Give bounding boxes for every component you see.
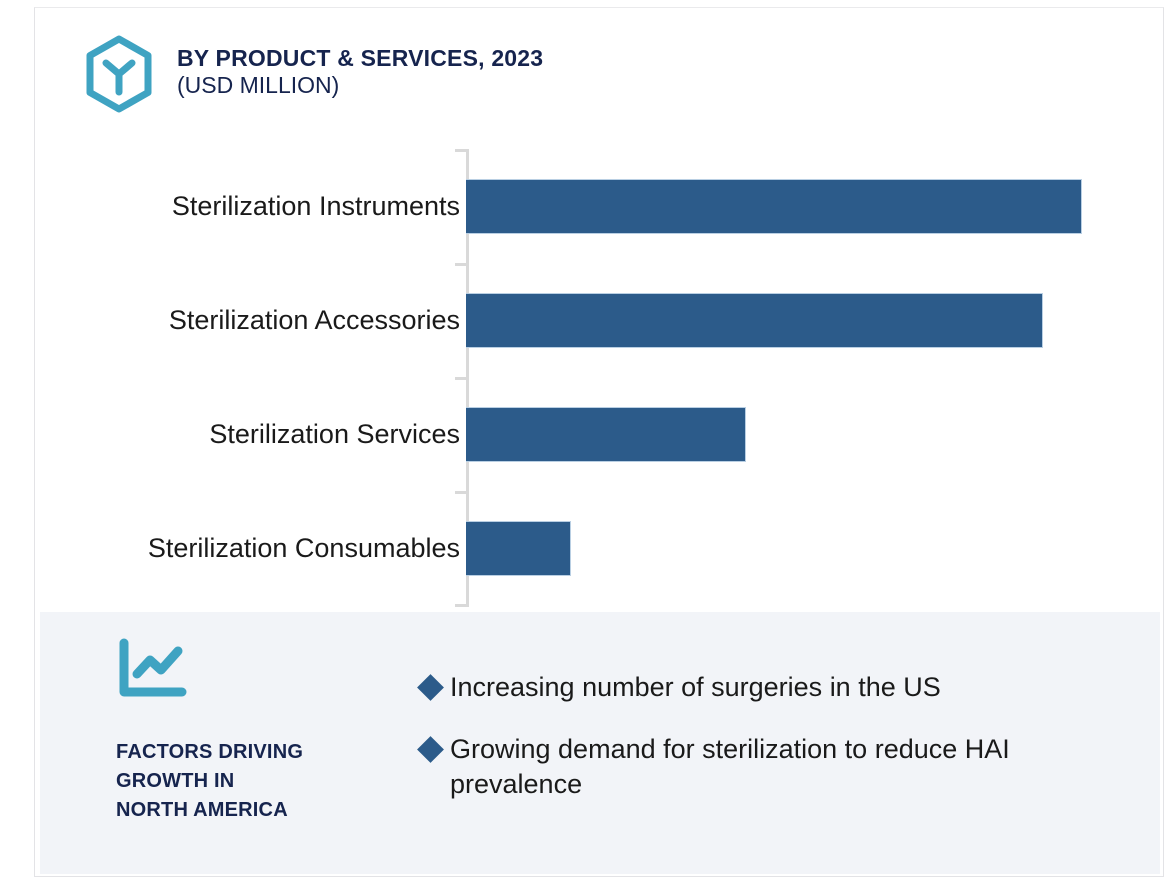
bar-chart: Sterilization Instruments Sterilization … bbox=[35, 149, 1165, 609]
category-label: Sterilization Accessories bbox=[0, 305, 460, 336]
factors-heading-block: FACTORS DRIVING GROWTH IN NORTH AMERICA bbox=[116, 638, 386, 825]
category-label: Sterilization Services bbox=[0, 419, 460, 450]
chart-header: BY PRODUCT & SERVICES, 2023 (USD MILLION… bbox=[83, 33, 543, 113]
category-label: Sterilization Instruments bbox=[0, 191, 460, 222]
page-subtitle: (USD MILLION) bbox=[177, 72, 543, 99]
infographic-card: BY PRODUCT & SERVICES, 2023 (USD MILLION… bbox=[0, 0, 1170, 884]
bar-row: Sterilization Instruments bbox=[466, 149, 1165, 263]
plot-area: Sterilization Instruments Sterilization … bbox=[466, 149, 1165, 607]
bar-sterilization-services[interactable] bbox=[466, 407, 746, 462]
factor-text: Growing demand for sterilization to redu… bbox=[450, 732, 1120, 803]
factors-panel: FACTORS DRIVING GROWTH IN NORTH AMERICA … bbox=[40, 612, 1160, 874]
factor-text: Increasing number of surgeries in the US bbox=[450, 670, 941, 706]
category-label: Sterilization Consumables bbox=[0, 533, 460, 564]
content-card: BY PRODUCT & SERVICES, 2023 (USD MILLION… bbox=[34, 7, 1164, 877]
diamond-bullet-icon bbox=[417, 736, 444, 763]
factors-title-line-3: NORTH AMERICA bbox=[116, 796, 386, 825]
line-chart-icon bbox=[116, 638, 188, 700]
hexagon-y-icon bbox=[83, 35, 155, 113]
list-item: Growing demand for sterilization to redu… bbox=[421, 732, 1121, 803]
factors-title-line-1: FACTORS DRIVING bbox=[116, 738, 386, 767]
factors-title: FACTORS DRIVING GROWTH IN NORTH AMERICA bbox=[116, 738, 386, 825]
header-text-block: BY PRODUCT & SERVICES, 2023 (USD MILLION… bbox=[177, 33, 543, 99]
list-item: Increasing number of surgeries in the US bbox=[421, 670, 1121, 706]
bar-row: Sterilization Accessories bbox=[466, 263, 1165, 377]
bar-sterilization-accessories[interactable] bbox=[466, 293, 1043, 348]
diamond-bullet-icon bbox=[417, 674, 444, 701]
bar-sterilization-instruments[interactable] bbox=[466, 179, 1082, 234]
bar-row: Sterilization Services bbox=[466, 377, 1165, 491]
bar-sterilization-consumables[interactable] bbox=[466, 521, 571, 576]
bar-row: Sterilization Consumables bbox=[466, 491, 1165, 605]
factors-list: Increasing number of surgeries in the US… bbox=[421, 670, 1121, 829]
page-title: BY PRODUCT & SERVICES, 2023 bbox=[177, 45, 543, 72]
factors-title-line-2: GROWTH IN bbox=[116, 767, 386, 796]
